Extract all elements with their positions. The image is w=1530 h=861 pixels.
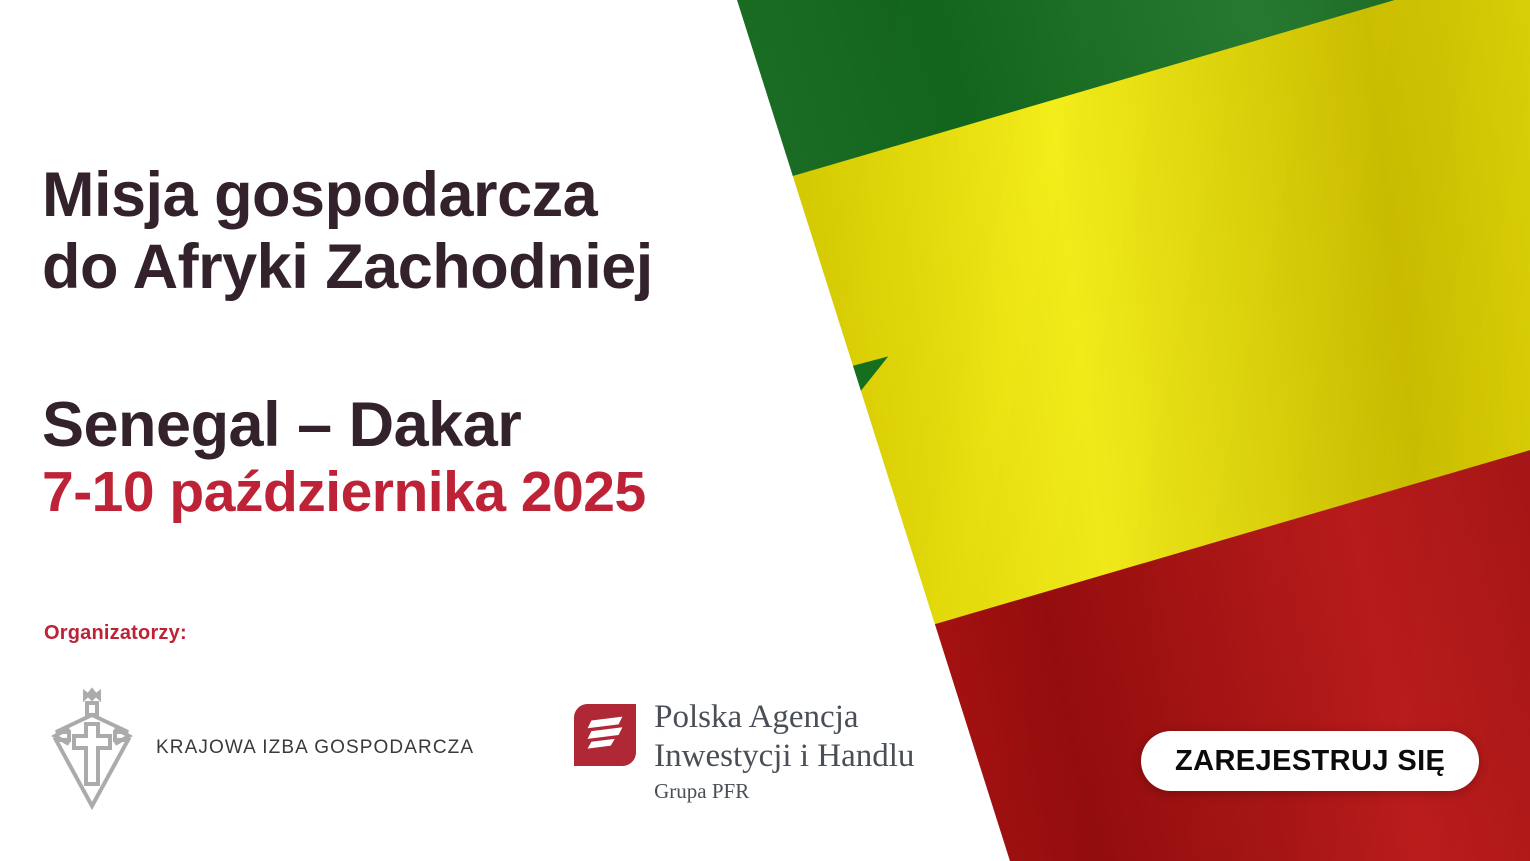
text-content-column: Misja gospodarcza do Afryki Zachodniej S… — [42, 0, 742, 861]
paih-line-1: Polska Agencja — [654, 698, 914, 737]
logo-polska-agencja-inwestycji-i-handlu: Polska Agencja Inwestycji i Handlu Grupa… — [574, 698, 914, 805]
logo-krajowa-izba-gospodarcza: KRAJOWA IZBA GOSPODARCZA — [42, 684, 474, 812]
paih-logo-text: Polska Agencja Inwestycji i Handlu Grupa… — [654, 698, 914, 805]
paih-subline: Grupa PFR — [654, 779, 914, 804]
organizer-logos: KRAJOWA IZBA GOSPODARCZA Polska Age — [42, 684, 914, 812]
kig-emblem-icon — [42, 684, 142, 812]
register-button[interactable]: ZAREJESTRUJ SIĘ — [1141, 731, 1479, 791]
paih-line-2: Inwestycji i Handlu — [654, 737, 914, 776]
paih-mark-icon — [574, 704, 636, 766]
headline-line-1: Misja gospodarcza — [42, 160, 653, 232]
organizers-label: Organizatorzy: — [44, 622, 187, 645]
event-date: 7-10 października 2025 — [42, 459, 646, 525]
event-promo-banner: Misja gospodarcza do Afryki Zachodniej S… — [0, 0, 1530, 861]
kig-logo-text: KRAJOWA IZBA GOSPODARCZA — [156, 737, 474, 759]
page-title: Misja gospodarcza do Afryki Zachodniej — [42, 160, 653, 304]
subtitle-location: Senegal – Dakar — [42, 391, 521, 460]
headline-line-2: do Afryki Zachodniej — [42, 232, 653, 304]
